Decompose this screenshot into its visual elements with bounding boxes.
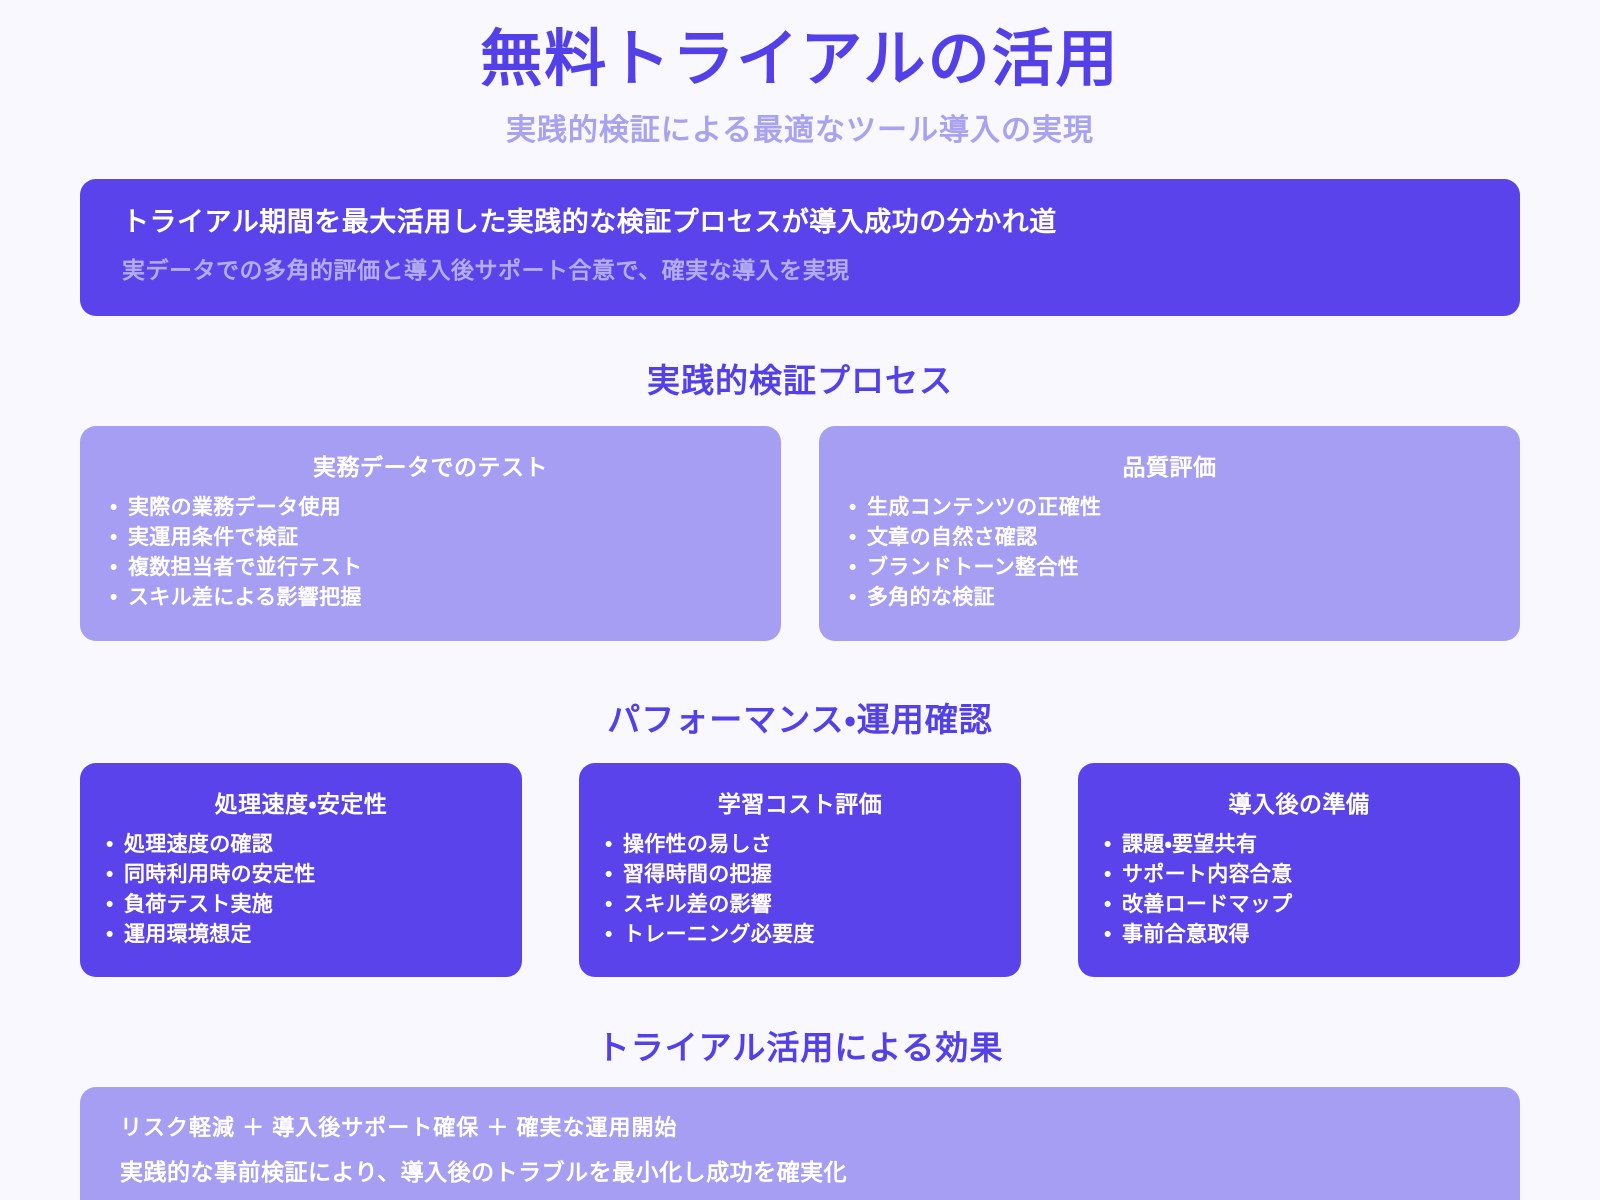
list-item: 実際の業務データ使用 <box>104 494 757 522</box>
page-title: 無料トライアルの活用 <box>0 24 1600 95</box>
banner-title: トライアル期間を最大活用した実践的な検証プロセスが導入成功の分かれ道 <box>122 205 1478 240</box>
card-quality-evaluation: 品質評価 生成コンテンツの正確性 文章の自然さ確認 ブランドトーン整合性 多角的… <box>819 426 1520 641</box>
list-item: 多角的な検証 <box>843 584 1496 612</box>
slide-root: 無料トライアルの活用 実践的検証による最適なツール導入の実現 トライアル期間を最… <box>0 0 1600 1200</box>
performance-card-row: 処理速度・安定性 処理速度の確認 同時利用時の安定性 負荷テスト実施 運用環境想… <box>0 763 1600 977</box>
card-title: 品質評価 <box>843 448 1496 482</box>
card-processing-speed: 処理速度・安定性 処理速度の確認 同時利用時の安定性 負荷テスト実施 運用環境想… <box>80 763 522 977</box>
list-item: サポート内容合意 <box>1102 861 1496 889</box>
card-title: 学習コスト評価 <box>603 785 997 819</box>
section-heading-effects: トライアル活用による効果 <box>0 1021 1600 1069</box>
card-bullet-list: 生成コンテンツの正確性 文章の自然さ確認 ブランドトーン整合性 多角的な検証 <box>843 494 1496 612</box>
summary-footer-box: リスク軽減 ＋ 導入後サポート確保 ＋ 確実な運用開始 実践的な事前検証により、… <box>80 1087 1520 1200</box>
page-subtitle: 実践的検証による最適なツール導入の実現 <box>0 105 1600 149</box>
list-item: 同時利用時の安定性 <box>104 861 498 889</box>
list-item: スキル差の影響 <box>603 891 997 919</box>
list-item: 習得時間の把握 <box>603 861 997 889</box>
list-item: 改善ロードマップ <box>1102 891 1496 919</box>
list-item: 実運用条件で検証 <box>104 524 757 552</box>
list-item: 負荷テスト実施 <box>104 891 498 919</box>
process-card-row: 実務データでのテスト 実際の業務データ使用 実運用条件で検証 複数担当者で並行テ… <box>0 426 1600 641</box>
list-item: ブランドトーン整合性 <box>843 554 1496 582</box>
card-title: 処理速度・安定性 <box>104 785 498 819</box>
card-title: 導入後の準備 <box>1102 785 1496 819</box>
card-title: 実務データでのテスト <box>104 448 757 482</box>
footer-description-line: 実践的な事前検証により、導入後のトラブルを最小化し成功を確実化 <box>120 1157 1480 1188</box>
list-item: 複数担当者で並行テスト <box>104 554 757 582</box>
card-post-deployment-prep: 導入後の準備 課題・要望共有 サポート内容合意 改善ロードマップ 事前合意取得 <box>1078 763 1520 977</box>
list-item: 操作性の易しさ <box>603 831 997 859</box>
card-practical-data-test: 実務データでのテスト 実際の業務データ使用 実運用条件で検証 複数担当者で並行テ… <box>80 426 781 641</box>
card-bullet-list: 操作性の易しさ 習得時間の把握 スキル差の影響 トレーニング必要度 <box>603 831 997 949</box>
card-bullet-list: 処理速度の確認 同時利用時の安定性 負荷テスト実施 運用環境想定 <box>104 831 498 949</box>
list-item: トレーニング必要度 <box>603 921 997 949</box>
key-message-banner: トライアル期間を最大活用した実践的な検証プロセスが導入成功の分かれ道 実データで… <box>80 179 1520 316</box>
card-bullet-list: 実際の業務データ使用 実運用条件で検証 複数担当者で並行テスト スキル差による影… <box>104 494 757 612</box>
banner-subtitle: 実データでの多角的評価と導入後サポート合意で、確実な導入を実現 <box>122 256 1478 286</box>
list-item: 生成コンテンツの正確性 <box>843 494 1496 522</box>
list-item: スキル差による影響把握 <box>104 584 757 612</box>
list-item: 運用環境想定 <box>104 921 498 949</box>
list-item: 文章の自然さ確認 <box>843 524 1496 552</box>
footer-formula-line: リスク軽減 ＋ 導入後サポート確保 ＋ 確実な運用開始 <box>120 1113 1480 1143</box>
list-item: 事前合意取得 <box>1102 921 1496 949</box>
section-heading-process: 実践的検証プロセス <box>0 354 1600 402</box>
card-bullet-list: 課題・要望共有 サポート内容合意 改善ロードマップ 事前合意取得 <box>1102 831 1496 949</box>
page-header: 無料トライアルの活用 実践的検証による最適なツール導入の実現 <box>0 0 1600 149</box>
card-learning-cost: 学習コスト評価 操作性の易しさ 習得時間の把握 スキル差の影響 トレーニング必要… <box>579 763 1021 977</box>
section-heading-performance: パフォーマンス・運用確認 <box>0 693 1600 741</box>
list-item: 処理速度の確認 <box>104 831 498 859</box>
list-item: 課題・要望共有 <box>1102 831 1496 859</box>
